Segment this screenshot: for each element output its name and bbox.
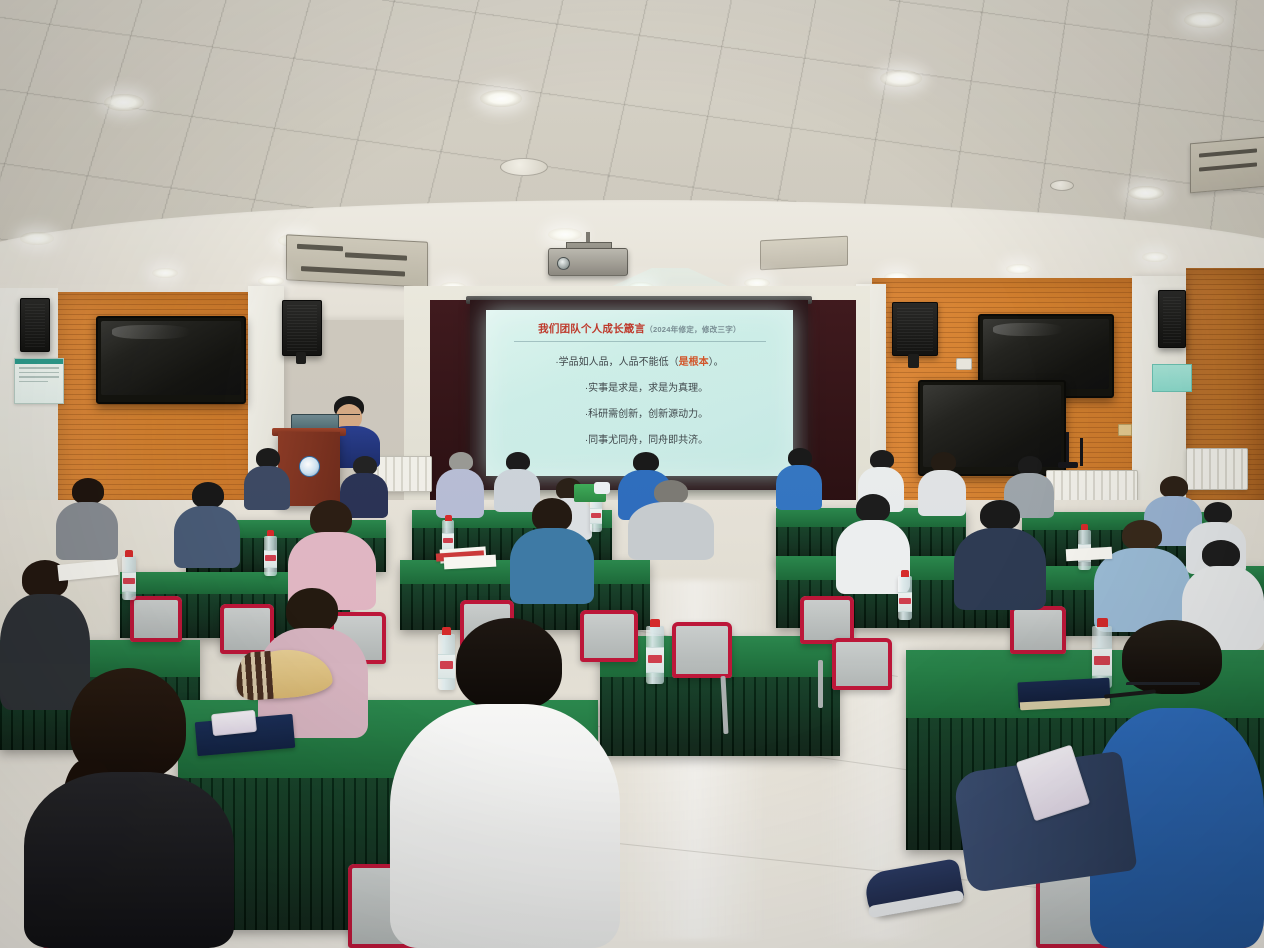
right-wall-speaker xyxy=(892,302,938,356)
downlight-icon xyxy=(20,232,54,245)
notice-line xyxy=(19,381,48,383)
bottle-label xyxy=(590,508,602,524)
slide-bullet-1: ·学品如人品，人品不能低（是根本）。 xyxy=(486,353,793,368)
attendee xyxy=(56,478,118,560)
attendee-torso xyxy=(954,528,1046,610)
attendee xyxy=(436,452,484,518)
bottle-cap xyxy=(445,515,452,521)
water-bottle[interactable] xyxy=(122,556,136,600)
attendee-foreground xyxy=(390,618,620,948)
left-wall-tv xyxy=(96,316,246,404)
attendee-torso xyxy=(24,772,234,948)
attendee xyxy=(954,500,1046,610)
bottle-cap xyxy=(267,530,274,536)
attendee xyxy=(244,448,290,510)
notice-header xyxy=(15,359,63,364)
water-bottle[interactable] xyxy=(264,536,277,576)
presenter-glasses-icon xyxy=(338,414,360,419)
bottle-cap xyxy=(650,619,660,627)
bottle-label xyxy=(898,592,912,612)
bottle-label xyxy=(442,533,454,550)
chair-trim xyxy=(800,596,854,644)
projector xyxy=(548,248,628,276)
attendee-torso xyxy=(174,506,240,568)
attendee-hair xyxy=(310,500,352,536)
meeting-room-photo: 我们团队个人成长箴言（2024年修定，修改三字） ·学品如人品，人品不能低（是根… xyxy=(0,0,1264,948)
attendee-hair xyxy=(532,498,572,532)
water-bottle[interactable] xyxy=(646,626,664,684)
paper-sheet[interactable] xyxy=(1066,547,1113,561)
attendee-hair xyxy=(72,478,104,504)
attendee-hair xyxy=(654,480,688,504)
tv-screen xyxy=(983,319,1109,389)
bottle-cap xyxy=(1097,618,1108,627)
bottle-cap xyxy=(125,550,133,557)
wall-outlet-icon xyxy=(1118,424,1132,436)
table-skirt xyxy=(600,677,840,756)
tv-glare xyxy=(112,325,189,338)
ceiling-ac-cassette xyxy=(286,234,428,287)
wall-notice-board xyxy=(14,358,64,404)
slide-bullet-2-text: ·实事是求是，求是为真理。 xyxy=(585,383,708,394)
attendee-hair xyxy=(286,588,338,632)
tv-screen xyxy=(101,321,241,395)
chair xyxy=(1010,606,1066,654)
chair xyxy=(672,622,732,678)
chair xyxy=(130,596,182,642)
bottle-cap xyxy=(901,570,909,577)
bottle-label xyxy=(646,647,664,673)
speaker-bracket xyxy=(296,352,306,364)
notice-line xyxy=(19,367,59,369)
chair-trim xyxy=(672,622,732,678)
attendee xyxy=(628,480,714,560)
smartphone[interactable] xyxy=(211,710,257,736)
tissue xyxy=(594,482,610,494)
attendee-hair xyxy=(633,452,659,472)
slide-title: 我们团队个人成长箴言（2024年修定，修改三字） xyxy=(486,321,793,336)
attendee-torso xyxy=(56,502,118,560)
attendee-hair xyxy=(1160,476,1188,498)
bottle-cap xyxy=(442,627,451,635)
slide-title-main: 我们团队个人成长箴言 xyxy=(538,323,645,335)
slide-bullet-1-tail: ）。 xyxy=(709,357,724,368)
gooseneck-microphone-2 xyxy=(1080,438,1083,466)
downlight-icon xyxy=(1006,264,1032,274)
downlight-icon xyxy=(152,268,178,278)
slide-bullet-4: ·同事尤同舟，同舟即共济。 xyxy=(486,431,793,446)
chair-trim xyxy=(1010,606,1066,654)
gooseneck-microphone xyxy=(1066,432,1069,466)
attendee-hair xyxy=(456,618,562,710)
chair-trim xyxy=(130,596,182,642)
bottle-label xyxy=(122,572,136,592)
slide-bullet-4-text: ·同事尤同舟，同舟即共济。 xyxy=(585,435,708,446)
bottle-label xyxy=(438,654,455,679)
downlight-icon xyxy=(258,276,284,286)
downlight-icon xyxy=(1142,252,1168,262)
attendee xyxy=(174,482,240,568)
slide-title-paren: （2024年修定，修改三字） xyxy=(645,325,741,334)
left-wall-speaker xyxy=(20,298,50,352)
ceiling-ac-cassette xyxy=(1190,137,1264,194)
attendee-hair xyxy=(1202,540,1240,568)
chair-leg xyxy=(818,660,823,708)
right-wall-speaker-far xyxy=(1158,290,1186,348)
slide-bullet-3: ·科研需创新，创新源动力。 xyxy=(486,405,793,420)
attendee-torso xyxy=(776,465,822,510)
attendee-hair xyxy=(1204,502,1232,524)
attendee-hair xyxy=(931,452,956,472)
wall-camera xyxy=(956,358,972,370)
slide-bullet-1-text: ·学品如人品，人品不能低（ xyxy=(555,357,678,368)
bottle-cap xyxy=(1081,524,1088,530)
attendee xyxy=(510,498,594,604)
attendee-torso xyxy=(390,704,620,948)
slide-bullet-3-text: ·科研需创新，创新源动力。 xyxy=(585,409,708,420)
smoke-detector-icon xyxy=(1050,180,1074,191)
attendee xyxy=(1094,520,1190,632)
downlight-icon xyxy=(548,228,582,241)
water-bottle[interactable] xyxy=(438,634,455,690)
speaker-bracket xyxy=(908,354,919,368)
chair xyxy=(800,596,854,644)
podium-emblem xyxy=(299,456,320,477)
microphone-base xyxy=(1058,462,1078,468)
tv-glare xyxy=(993,323,1062,336)
slide-bullet-2: ·实事是求是，求是为真理。 xyxy=(486,379,793,394)
notice-line xyxy=(19,372,59,374)
chair xyxy=(832,638,892,690)
attendee xyxy=(776,448,822,510)
attendee-hair xyxy=(856,494,890,522)
attendee-hair xyxy=(1122,520,1162,550)
ceiling-air-vent xyxy=(760,236,848,271)
projector-lens-icon xyxy=(557,257,570,270)
attendee-torso xyxy=(628,502,714,560)
notice-line xyxy=(19,376,59,378)
attendee-torso xyxy=(244,466,290,510)
downlight-icon xyxy=(880,70,922,87)
wall-teal-sign xyxy=(1152,364,1192,392)
downlight-icon xyxy=(1184,12,1224,28)
slide-divider xyxy=(514,341,766,342)
downlight-icon xyxy=(1128,186,1164,200)
water-bottle[interactable] xyxy=(898,576,912,620)
bottle-label xyxy=(264,550,277,568)
smoke-detector-icon xyxy=(500,158,548,176)
downlight-icon xyxy=(480,90,522,107)
left-wall-speaker-2 xyxy=(282,300,322,356)
attendee-torso xyxy=(436,469,484,518)
attendee-foreground xyxy=(24,668,234,948)
attendee-torso xyxy=(510,528,594,604)
phone-screen xyxy=(212,711,256,735)
attendee-hair xyxy=(192,482,224,508)
chair-trim xyxy=(832,638,892,690)
downlight-icon xyxy=(104,94,144,111)
bottle-label xyxy=(1092,648,1112,676)
attendee-hair xyxy=(256,448,280,468)
slide-bullet-1-highlight: 是根本 xyxy=(679,357,709,368)
attendee-hair xyxy=(980,500,1020,530)
